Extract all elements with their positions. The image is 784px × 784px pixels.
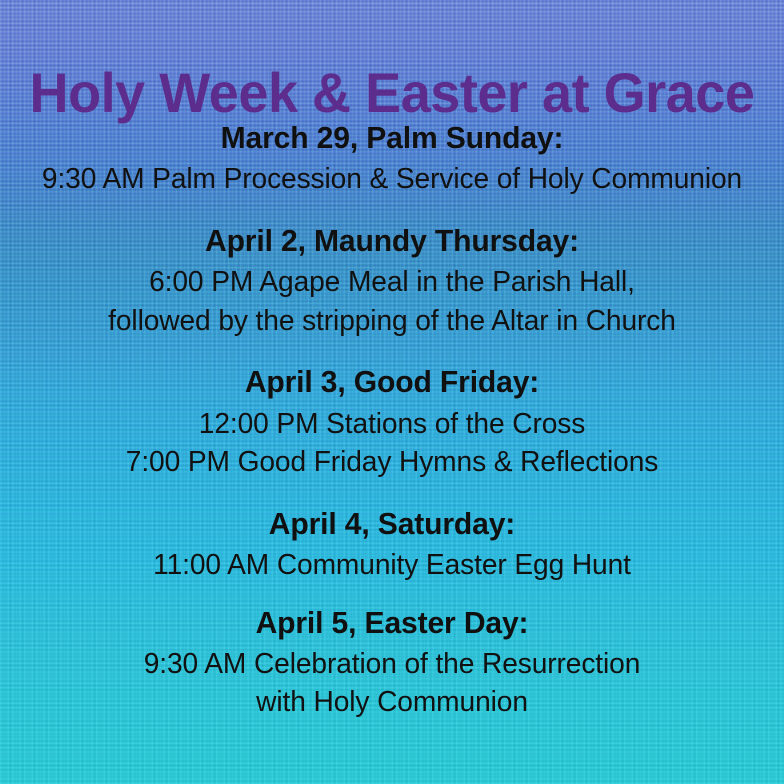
event-details: 6:00 PM Agape Meal in the Parish Hall, f…	[18, 263, 766, 340]
event-heading: April 3, Good Friday:	[29, 362, 755, 402]
event-heading: April 2, Maundy Thursday:	[29, 221, 755, 261]
event-block-good-friday: April 3, Good Friday: 12:00 PM Stations …	[18, 362, 766, 481]
event-details: 11:00 AM Community Easter Egg Hunt	[18, 546, 766, 585]
page-title: Holy Week & Easter at Grace	[14, 64, 771, 123]
event-heading: April 4, Saturday:	[29, 504, 755, 544]
event-detail-line: with Holy Communion	[29, 683, 755, 722]
event-detail-line: 9:30 AM Celebration of the Resurrection	[29, 645, 755, 684]
easter-schedule-poster: Holy Week & Easter at Grace March 29, Pa…	[0, 0, 784, 784]
event-detail-line: 7:00 PM Good Friday Hymns & Reflections	[29, 443, 755, 482]
event-detail-line: 6:00 PM Agape Meal in the Parish Hall,	[29, 263, 755, 302]
schedule-list: March 29, Palm Sunday: 9:30 AM Palm Proc…	[0, 118, 784, 740]
event-block-saturday: April 4, Saturday: 11:00 AM Community Ea…	[18, 504, 766, 585]
event-detail-line: followed by the stripping of the Altar i…	[29, 302, 755, 341]
event-block-maundy-thursday: April 2, Maundy Thursday: 6:00 PM Agape …	[18, 221, 766, 340]
poster-content: Holy Week & Easter at Grace March 29, Pa…	[0, 0, 784, 784]
event-details: 12:00 PM Stations of the Cross 7:00 PM G…	[18, 405, 766, 482]
event-block-palm-sunday: March 29, Palm Sunday: 9:30 AM Palm Proc…	[18, 118, 766, 199]
event-heading: March 29, Palm Sunday:	[29, 118, 755, 158]
event-heading: April 5, Easter Day:	[29, 603, 755, 643]
event-details: 9:30 AM Palm Procession & Service of Hol…	[18, 160, 766, 199]
event-block-easter-day: April 5, Easter Day: 9:30 AM Celebration…	[18, 603, 766, 722]
event-details: 9:30 AM Celebration of the Resurrection …	[18, 645, 766, 722]
event-detail-line: 9:30 AM Palm Procession & Service of Hol…	[29, 160, 755, 199]
event-detail-line: 11:00 AM Community Easter Egg Hunt	[29, 546, 755, 585]
event-detail-line: 12:00 PM Stations of the Cross	[29, 405, 755, 444]
